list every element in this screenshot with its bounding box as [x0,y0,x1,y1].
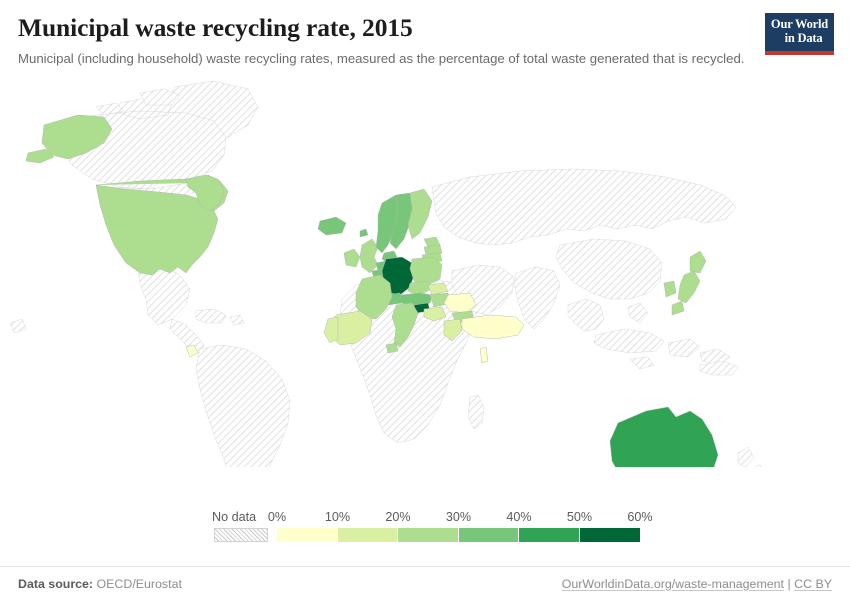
country-small-north-islands[interactable] [360,229,368,237]
region-new-zealand[interactable] [738,447,764,467]
footer-url[interactable]: OurWorldinData.org/waste-management [562,577,784,591]
country-japan[interactable] [672,251,706,315]
country-ireland[interactable] [344,249,360,267]
legend-no-data-label: No data [212,510,256,524]
country-turkey[interactable] [462,315,524,339]
region-papua-new-guinea[interactable] [700,361,738,375]
world-choropleth-map[interactable] [0,67,850,467]
data-source: Data source: OECD/Eurostat [18,577,182,591]
map-area[interactable]: No data 0%10%20%30%40%50%60% [0,67,850,600]
region-caribbean[interactable] [196,309,244,325]
legend-bin-2[interactable] [398,528,459,542]
legend-no-data-swatch[interactable] [214,528,268,542]
legend-bin-3[interactable] [459,528,520,542]
map-legend: No data 0%10%20%30%40%50%60% [0,496,850,546]
data-source-value: OECD/Eurostat [97,577,182,591]
footer-attribution[interactable]: OurWorldinData.org/waste-management | CC… [562,577,832,591]
our-world-in-data-logo[interactable]: Our World in Data [765,13,834,55]
legend-tick-3: 30% [446,510,471,524]
legend-bin-1[interactable] [338,528,399,542]
region-madagascar[interactable] [468,395,484,429]
region-china[interactable] [556,239,662,299]
legend-tick-6: 60% [627,510,652,524]
legend-bin-4[interactable] [519,528,580,542]
chart-subtitle: Municipal (including household) waste re… [18,50,753,68]
region-misc-islands[interactable] [10,319,26,333]
region-russia[interactable] [432,169,736,245]
footer-separator: | [787,577,790,591]
chart-root: Municipal waste recycling rate, 2015 Mun… [0,0,850,600]
chart-header: Municipal waste recycling rate, 2015 Mun… [0,0,850,67]
page-title: Municipal waste recycling rate, 2015 [18,14,718,43]
legend-bin-5[interactable] [580,528,641,542]
country-finland[interactable] [408,189,432,239]
logo-line-2: in Data [777,32,823,46]
hatch-pattern-icon [215,529,267,541]
region-south-america[interactable] [196,345,290,467]
data-source-label: Data source: [18,577,93,591]
legend-tick-0: 0% [268,510,286,524]
logo-line-1: Our World [771,18,828,32]
country-israel[interactable] [480,347,488,363]
country-iceland[interactable] [318,217,346,235]
country-south-korea[interactable] [664,281,676,297]
region-india[interactable] [514,267,560,329]
footer-license[interactable]: CC BY [794,577,832,591]
legend-tick-2: 20% [385,510,410,524]
legend-tick-1: 10% [325,510,350,524]
country-portugal[interactable] [324,317,338,343]
legend-bin-0[interactable] [277,528,338,542]
country-united-kingdom[interactable] [360,239,378,273]
legend-color-bar[interactable] [277,528,640,542]
legend-tick-4: 40% [506,510,531,524]
chart-footer: Data source: OECD/Eurostat OurWorldinDat… [0,566,850,600]
country-australia[interactable] [610,407,718,467]
legend-tick-5: 50% [567,510,592,524]
